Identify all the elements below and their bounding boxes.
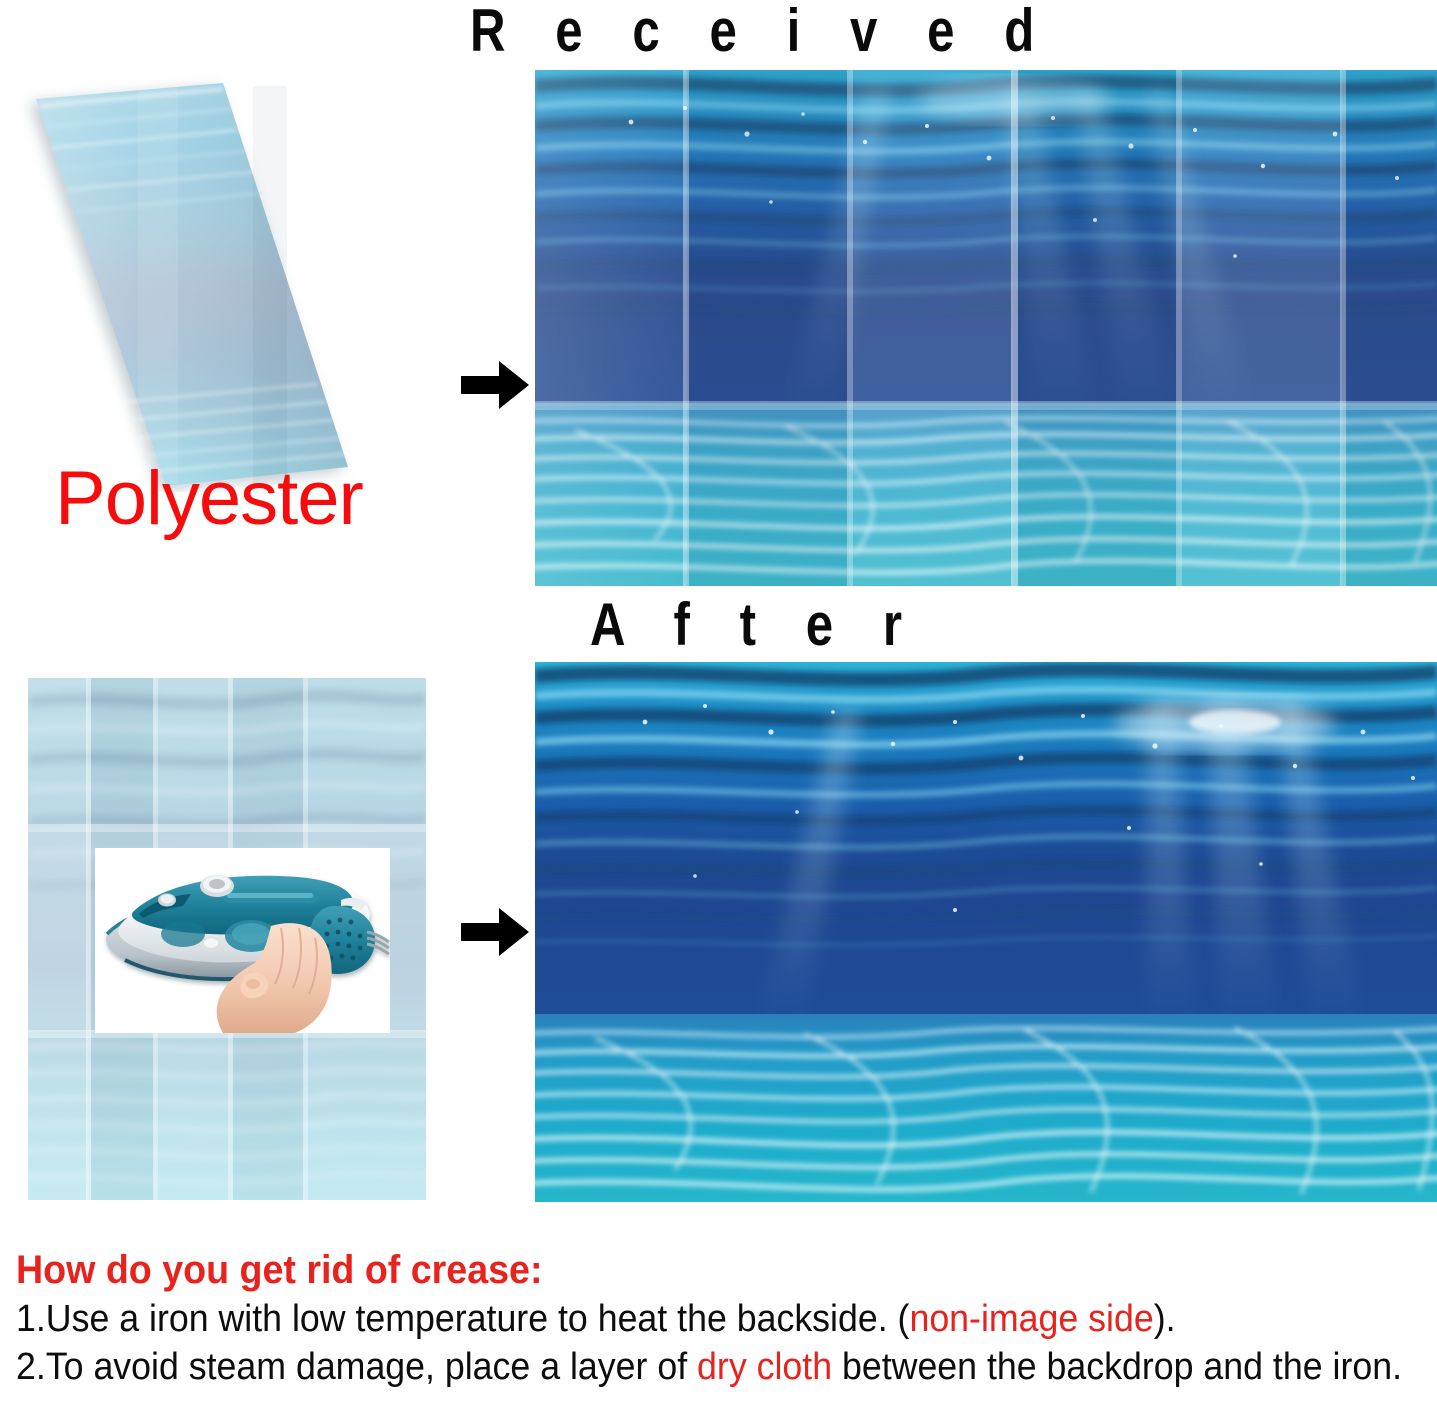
- received-backdrop-photo: [535, 70, 1437, 586]
- polyester-label: Polyester: [55, 455, 363, 542]
- care-step-1: 1.Use a iron with low temperature to hea…: [16, 1297, 1351, 1341]
- iron-demo-card: [95, 848, 390, 1033]
- care-step-2-suffix: between the backdrop and the iron.: [832, 1346, 1402, 1388]
- care-step-1-prefix: 1.Use a iron with low temperature to hea…: [16, 1298, 909, 1340]
- polyester-swatch-image: [18, 72, 438, 492]
- care-step-2-highlight: dry cloth: [697, 1346, 832, 1388]
- care-step-2: 2.To avoid steam damage, place a layer o…: [16, 1345, 1351, 1389]
- care-step-1-highlight: non-image side: [909, 1298, 1153, 1340]
- care-heading: How do you get rid of crease:: [16, 1248, 1351, 1293]
- care-instructions: How do you get rid of crease: 1.Use a ir…: [16, 1248, 1436, 1389]
- after-heading: A f t e r: [590, 590, 920, 659]
- right-arrow-icon: [459, 905, 531, 964]
- received-heading: R e c e i v e d: [470, 0, 1052, 65]
- infographic-root: R e c e i v e d: [0, 0, 1437, 1401]
- care-step-1-suffix: ).: [1154, 1298, 1176, 1340]
- care-step-2-prefix: 2.To avoid steam damage, place a layer o…: [16, 1346, 697, 1388]
- after-backdrop-photo: [535, 662, 1437, 1202]
- right-arrow-icon: [459, 358, 531, 417]
